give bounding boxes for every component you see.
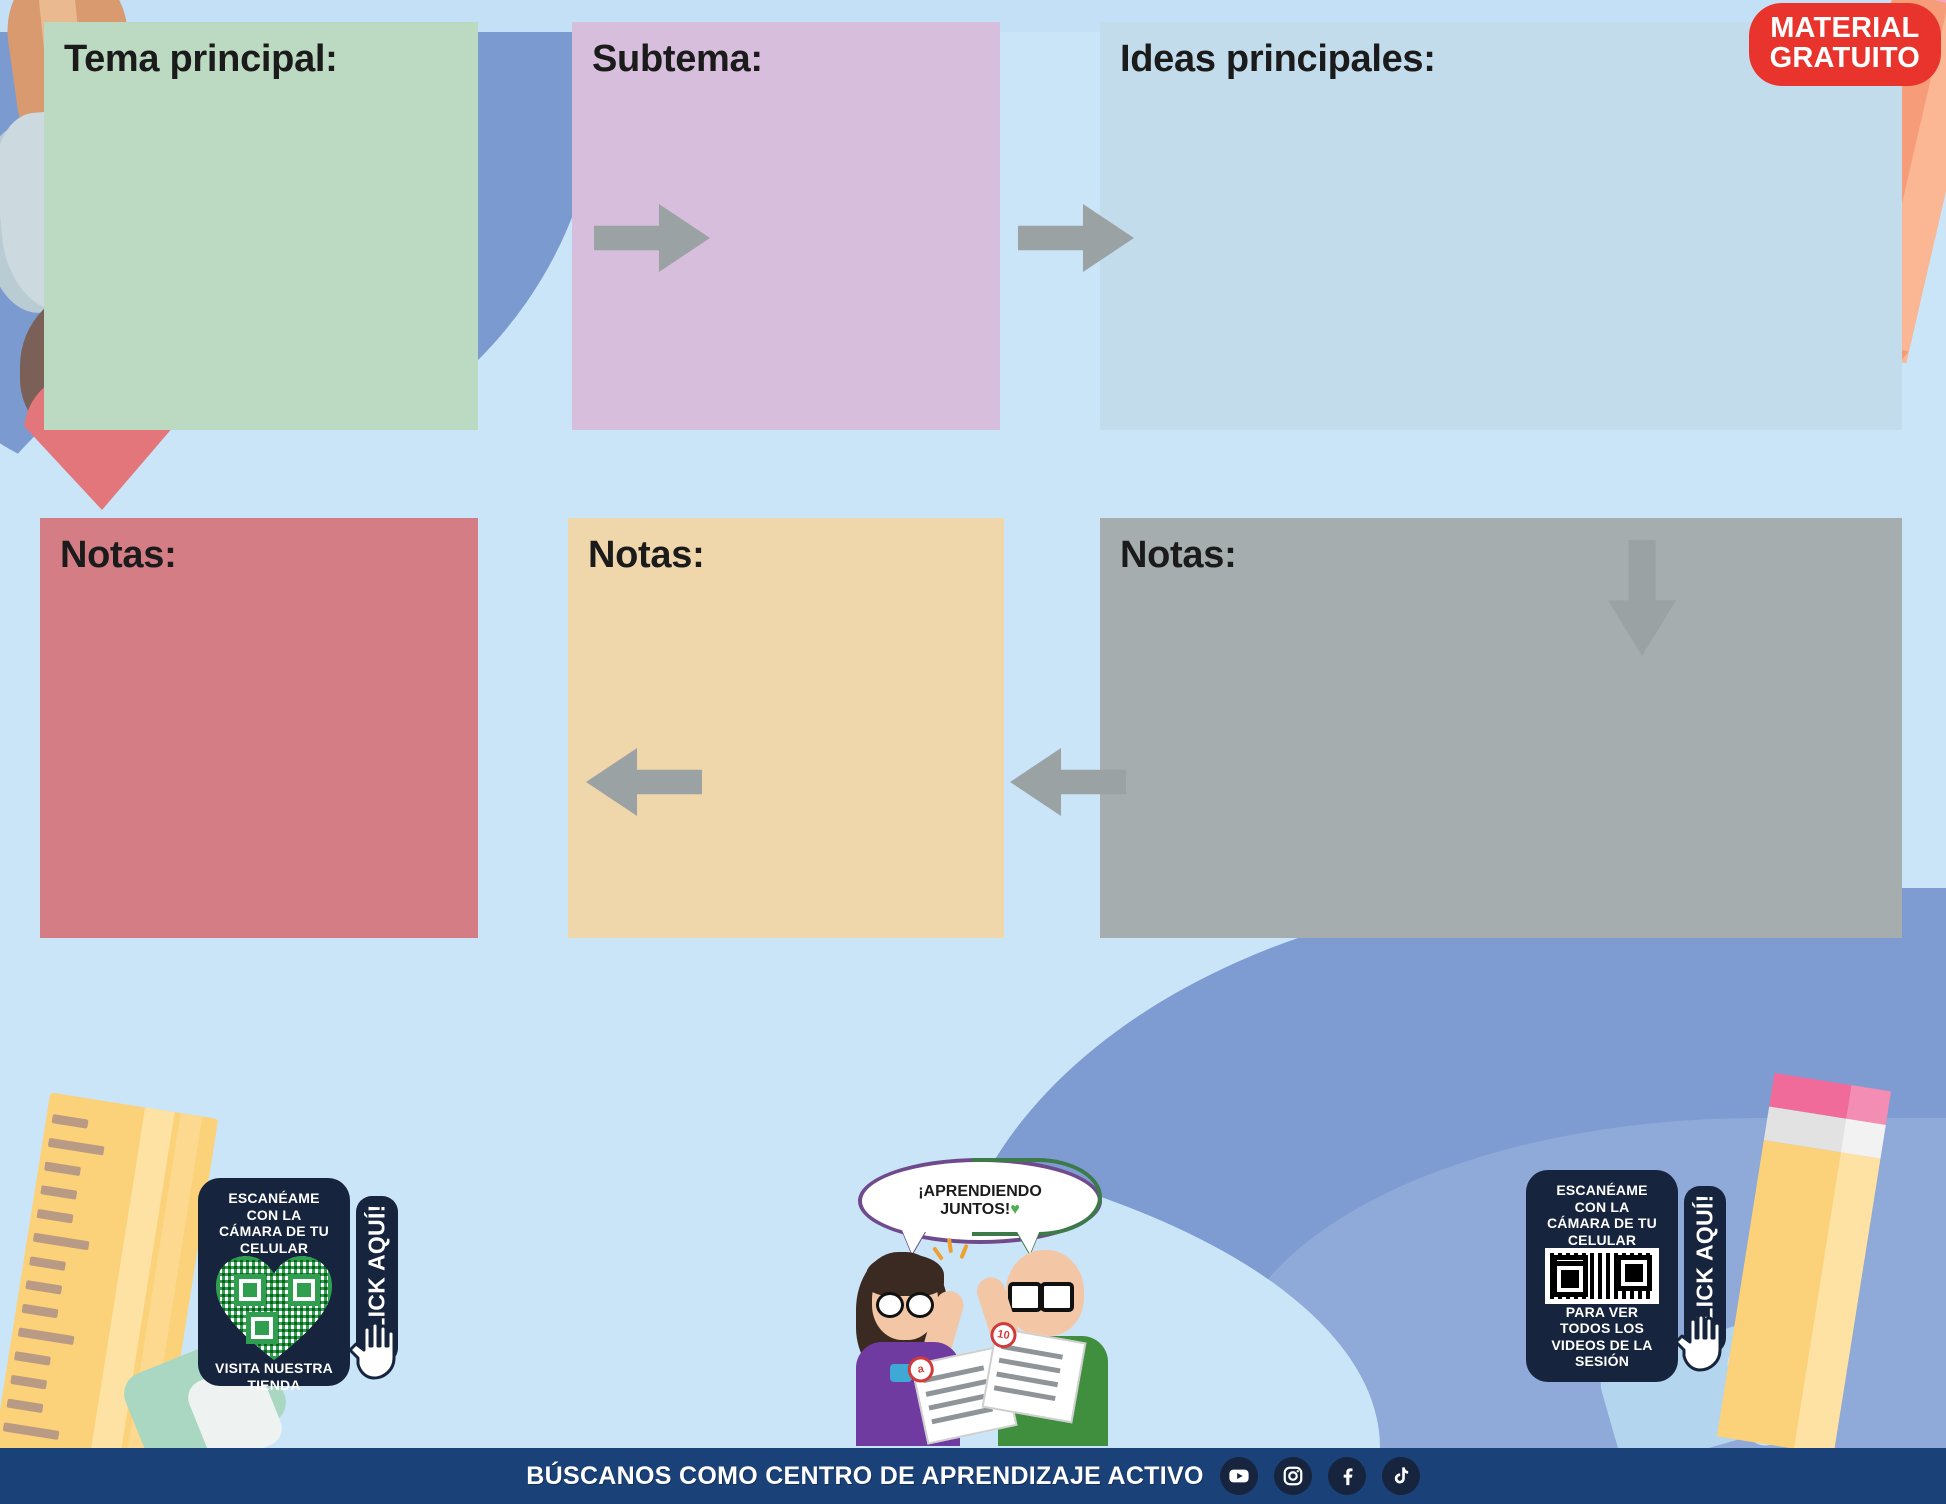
worksheet-canvas: Tema principal: Subtema: Ideas principal… <box>0 0 1946 1504</box>
speech-bubble: ¡APRENDIENDO JUNTOS!♥ <box>858 1158 1102 1244</box>
heart-icon: ♥ <box>1010 1201 1020 1218</box>
material-gratuito-badge: MATERIAL GRATUITO <box>1752 6 1938 83</box>
box-title-notas-2: Notas: <box>588 536 984 576</box>
qr-finder-top-left <box>234 1274 266 1306</box>
man-glasses-icon <box>1008 1282 1074 1304</box>
worksheet-paper-right: 10 <box>982 1327 1087 1424</box>
qr-finder-top-right <box>1616 1255 1652 1291</box>
qr-card-store[interactable]: ESCANÉAME CON LACÁMARA DE TU CELULAR VIS… <box>198 1178 350 1386</box>
instagram-icon[interactable] <box>1274 1457 1312 1495</box>
qr-store-caption-top: ESCANÉAME CON LACÁMARA DE TU CELULAR <box>212 1190 336 1256</box>
speech-bubble-text: ¡APRENDIENDO JUNTOS!♥ <box>918 1183 1042 1220</box>
badge-line-1: MATERIAL <box>1770 14 1920 44</box>
qr-videos-caption-bottom: PARA VER TODOS LOSVIDEOS DE LA SESIÓN <box>1540 1304 1664 1370</box>
worksheet-content: Tema principal: Subtema: Ideas principal… <box>0 0 1946 1504</box>
box-title-notas-1: Notas: <box>60 536 458 576</box>
footer-bar: BÚSCANOS COMO CENTRO DE APRENDIZAJE ACTI… <box>0 1448 1946 1504</box>
qr-code-square-videos[interactable] <box>1545 1248 1659 1304</box>
youtube-icon[interactable] <box>1220 1457 1258 1495</box>
badge-line-2: GRATUITO <box>1770 44 1920 74</box>
box-notas-2[interactable]: Notas: <box>568 518 1004 938</box>
box-ideas-principales[interactable]: Ideas principales: <box>1100 22 1902 430</box>
speech-line-2: JUNTOS! <box>940 1201 1010 1218</box>
qr-card-videos[interactable]: ESCANÉAME CON LACÁMARA DE TU CELULAR PAR… <box>1526 1170 1678 1382</box>
speech-line-1: ¡APRENDIENDO <box>918 1183 1042 1200</box>
box-notas-3[interactable]: Notas: <box>1100 518 1902 938</box>
qr-videos-caption-top: ESCANÉAME CON LACÁMARA DE TU CELULAR <box>1540 1182 1664 1248</box>
qr-store-caption-bottom: VISITA NUESTRA TIENDA <box>212 1360 336 1393</box>
box-title-subtema: Subtema: <box>592 40 980 80</box>
woman-hair-top <box>866 1254 944 1296</box>
footer-text: BÚSCANOS COMO CENTRO DE APRENDIZAJE ACTI… <box>526 1462 1203 1491</box>
facebook-icon[interactable] <box>1328 1457 1366 1495</box>
pointing-hand-cursor-icon-videos <box>1672 1310 1736 1374</box>
qr-finder-bottom-left <box>1552 1261 1588 1297</box>
tiktok-icon[interactable] <box>1382 1457 1420 1495</box>
box-tema-principal[interactable]: Tema principal: <box>44 22 478 430</box>
box-notas-1[interactable]: Notas: <box>40 518 478 938</box>
qr-code-heart-store[interactable] <box>216 1256 332 1360</box>
qr-heart-outline <box>216 1256 332 1360</box>
qr-square-modules <box>1550 1253 1654 1299</box>
box-title-notas-3: Notas: <box>1120 536 1882 576</box>
qr-finder-top-right <box>288 1274 320 1306</box>
box-title-tema-principal: Tema principal: <box>64 40 458 80</box>
teachers-illustration: ¡APRENDIENDO JUNTOS!♥ <box>840 1158 1120 1448</box>
pointing-hand-cursor-icon-store <box>346 1318 410 1382</box>
qr-finder-bottom-left <box>246 1312 278 1344</box>
woman-glasses-icon <box>876 1292 934 1312</box>
